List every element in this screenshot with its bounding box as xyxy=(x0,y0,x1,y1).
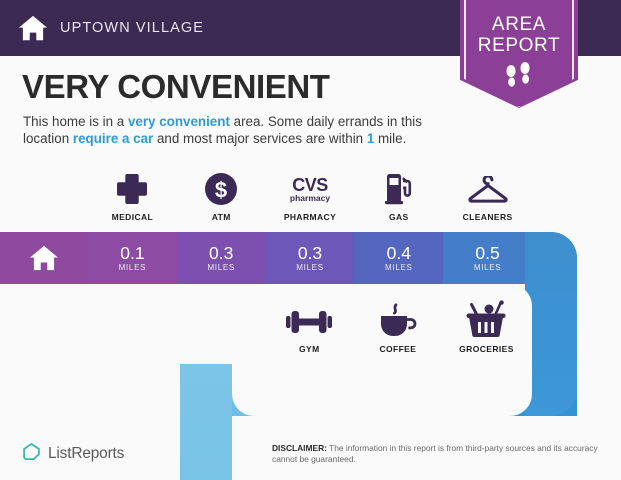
poi-label: GAS xyxy=(389,212,409,222)
poi-label: GYM xyxy=(299,344,320,354)
distance-unit: MILES xyxy=(119,263,147,272)
poi-pharmacy: CVS pharmacy PHARMACY xyxy=(266,168,355,222)
poi-atm: $ ATM xyxy=(177,168,266,222)
icon-row-primary: MEDICAL $ ATM CVS pharmacy PHARMACY xyxy=(88,168,532,222)
distance-unit: MILES xyxy=(474,263,502,272)
poi-medical: MEDICAL xyxy=(88,168,177,222)
distance-unit: MILES xyxy=(207,263,235,272)
subtitle-highlight-1: very convenient xyxy=(128,114,230,129)
medical-cross-icon xyxy=(115,168,149,206)
disclaimer-label: DISCLAIMER: xyxy=(272,443,327,453)
poi-coffee: COFFEE xyxy=(354,300,443,354)
clothes-hanger-icon xyxy=(467,168,509,206)
area-report-badge: AREA REPORT xyxy=(460,0,578,108)
bar-segment-pharmacy: 0.3 MILES xyxy=(266,232,355,284)
bar-segment-atm: 0.3 MILES xyxy=(177,232,266,284)
subtitle-part-3: and most major services are within xyxy=(153,131,367,146)
badge-line-2: REPORT xyxy=(460,35,578,56)
gas-pump-icon xyxy=(382,168,416,206)
subtitle-highlight-2: require a car xyxy=(73,131,153,146)
distance-unit: MILES xyxy=(385,263,413,272)
poi-gym: GYM xyxy=(265,300,354,354)
distance-value: 0.3 xyxy=(298,244,322,262)
icon-row-secondary: GYM COFFEE xyxy=(265,300,531,354)
distance-value: 0.1 xyxy=(120,244,144,262)
dumbbell-icon xyxy=(286,300,332,338)
coffee-cup-icon xyxy=(378,300,418,338)
bar-connector-left xyxy=(180,364,232,480)
bar-segment-cleaners: 0.5 MILES xyxy=(443,232,532,284)
cvs-pharmacy-logo: CVS pharmacy xyxy=(282,168,338,206)
header-title: UPTOWN VILLAGE xyxy=(60,20,204,36)
subtitle-part-4: mile. xyxy=(374,131,406,146)
distance-value: 0.4 xyxy=(387,244,411,262)
bar-segment-gas: 0.4 MILES xyxy=(354,232,443,284)
listreports-house-icon xyxy=(22,442,48,466)
badge-text: AREA REPORT xyxy=(460,14,578,56)
home-icon xyxy=(29,244,59,272)
bar-home-marker xyxy=(0,232,88,284)
footprints-icon xyxy=(499,60,539,90)
listreports-text: ListReports xyxy=(48,445,124,463)
disclaimer: DISCLAIMER: The information in this repo… xyxy=(272,443,602,465)
badge-line-1: AREA xyxy=(460,14,578,35)
poi-label: ATM xyxy=(212,212,231,222)
grocery-basket-icon xyxy=(465,300,507,338)
area-report-infographic: UPTOWN VILLAGE AREA REPORT VERY CONVENIE… xyxy=(0,0,621,480)
poi-label: CLEANERS xyxy=(463,212,513,222)
bar-connector-right xyxy=(525,232,577,416)
poi-gas: GAS xyxy=(354,168,443,222)
poi-label: MEDICAL xyxy=(112,212,154,222)
distance-value: 0.3 xyxy=(209,244,233,262)
page-subtitle: This home is in a very convenient area. … xyxy=(23,113,443,147)
poi-label: PHARMACY xyxy=(284,212,336,222)
distance-unit: MILES xyxy=(296,263,324,272)
listreports-logo: ListReports xyxy=(22,442,124,466)
poi-groceries: GROCERIES xyxy=(442,300,531,354)
poi-label: COFFEE xyxy=(379,344,416,354)
distance-value: 0.5 xyxy=(475,244,499,262)
svg-text:pharmacy: pharmacy xyxy=(290,193,330,203)
dollar-circle-icon: $ xyxy=(204,168,238,206)
home-icon xyxy=(18,14,48,42)
poi-cleaners: CLEANERS xyxy=(443,168,532,222)
poi-label: GROCERIES xyxy=(459,344,514,354)
page-title: VERY CONVENIENT xyxy=(22,68,330,106)
subtitle-part-1: This home is in a xyxy=(23,114,128,129)
svg-text:CVS: CVS xyxy=(292,175,328,195)
svg-text:$: $ xyxy=(215,178,227,203)
distance-bar-primary: 0.1 MILES 0.3 MILES 0.3 MILES 0.4 MILES … xyxy=(0,232,577,284)
bar-segment-medical: 0.1 MILES xyxy=(88,232,177,284)
